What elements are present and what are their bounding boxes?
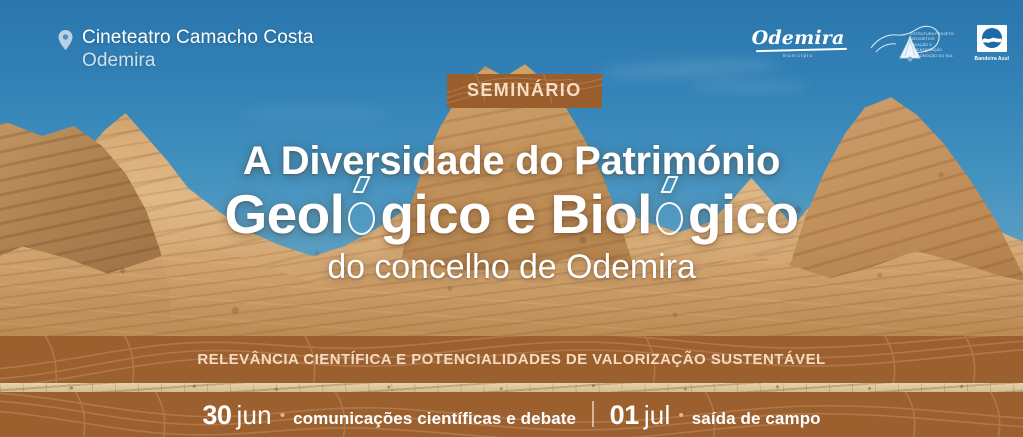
- logo-odemira-municipio: Odemira município: [752, 29, 845, 58]
- date-1-day: 30: [202, 400, 231, 431]
- geoparque-line-1: ESTRUTURA PROJETO GEOSSÍTIOS: [911, 32, 955, 43]
- date-2-bullet: •: [678, 407, 683, 424]
- date-1-month: jun: [237, 400, 272, 431]
- venue-block: Cineteatro Camacho Costa Odemira: [58, 26, 314, 72]
- location-pin-icon: [58, 30, 73, 55]
- geoparque-line-2: CRIAÇÃO E INVENTARIAÇÃO: [911, 43, 955, 54]
- title-line-2-part-c: gico: [688, 185, 799, 244]
- title-line-2: Geol gico e Biol gico: [0, 185, 1023, 244]
- date-1-description: comunicações científicas e debate: [293, 409, 576, 429]
- date-1-bullet: •: [280, 407, 285, 424]
- sandstone-divider-strip: [0, 383, 1023, 392]
- dates-line: 30 jun • comunicações científicas e deba…: [202, 398, 820, 431]
- blue-flag-circle-icon: [981, 27, 1003, 49]
- logo-geoparque: ESTRUTURA PROJETO GEOSSÍTIOS CRIAÇÃO E I…: [867, 22, 953, 64]
- date-2-description: saída de campo: [692, 409, 821, 429]
- venue-name: Cineteatro Camacho Costa: [82, 26, 314, 49]
- odemira-wordmark: Odemira: [752, 29, 845, 48]
- event-poster: Cineteatro Camacho Costa Odemira Odemira…: [0, 0, 1023, 437]
- date-2-day: 01: [610, 400, 639, 431]
- hollow-o-glyph-2: [653, 196, 687, 234]
- geoparque-line-3: E PROMOÇÃO DO SUL: [911, 54, 955, 59]
- date-2-month: jul: [644, 400, 671, 431]
- odemira-tagline: município: [783, 53, 813, 58]
- bandeira-azul-mark: [977, 25, 1007, 52]
- title-block: A Diversidade do Património Geol gico e …: [0, 140, 1023, 286]
- title-line-3: do concelho de Odemira: [0, 249, 1023, 286]
- bandeira-azul-label: Bandeira Azul: [975, 56, 1009, 62]
- title-line-1: A Diversidade do Património: [0, 140, 1023, 182]
- title-line-2-part-a: Geol: [224, 185, 344, 244]
- hollow-o-glyph-1: [345, 196, 379, 234]
- dates-band: 30 jun • comunicações científicas e deba…: [0, 392, 1023, 437]
- subtitle-band: RELEVÂNCIA CIENTÍFICA E POTENCIALIDADES …: [0, 336, 1023, 383]
- dates-separator: [592, 401, 594, 427]
- logo-bandeira-azul: Bandeira Azul: [975, 25, 1009, 62]
- seminario-badge: SEMINÁRIO: [447, 74, 602, 108]
- badge-label: SEMINÁRIO: [467, 80, 582, 100]
- venue-city: Odemira: [82, 49, 314, 72]
- logo-bar: Odemira município ESTRUTURA PROJETO GEOS…: [752, 22, 1009, 64]
- geoparque-lines: ESTRUTURA PROJETO GEOSSÍTIOS CRIAÇÃO E I…: [911, 32, 955, 59]
- subtitle-text: RELEVÂNCIA CIENTÍFICA E POTENCIALIDADES …: [197, 351, 825, 368]
- title-line-2-part-b: gico e Biol: [380, 185, 652, 244]
